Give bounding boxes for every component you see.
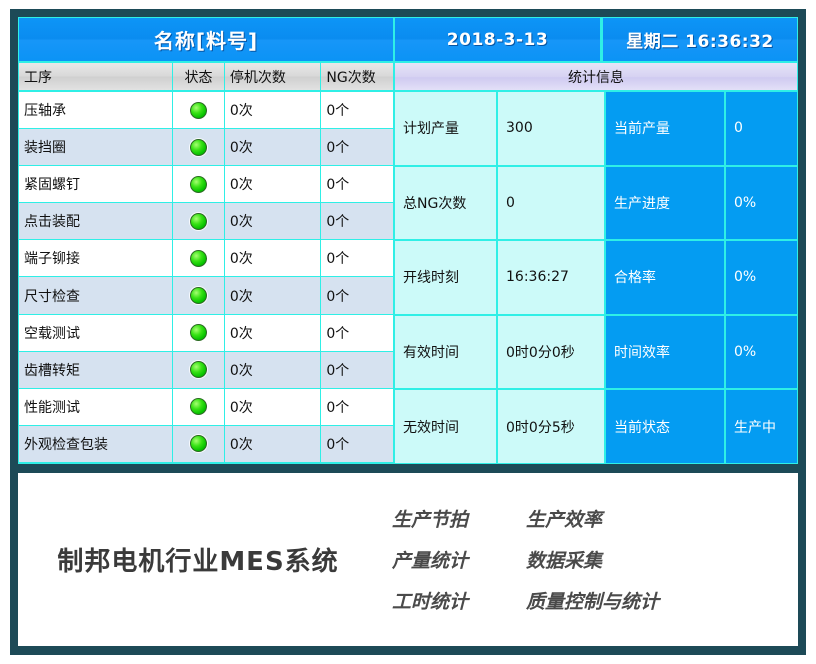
green-led-icon (190, 176, 207, 193)
dashboard-frame: 名称[料号] 工序 状态 停机次数 NG次数 压轴承0次0个装挡圈0次0个紧固螺… (10, 9, 806, 655)
ng-count: 0个 (321, 389, 393, 425)
statistics-row: 计划产量300当前产量0 (395, 92, 797, 167)
stat-label-right: 合格率 (606, 241, 726, 314)
stop-count: 0次 (225, 129, 321, 165)
feature-item: 产量统计 (392, 546, 468, 573)
green-led-icon (190, 398, 207, 415)
status-indicator (173, 240, 225, 276)
process-name: 紧固螺钉 (19, 166, 173, 202)
stat-label-right: 当前状态 (606, 390, 726, 463)
table-row[interactable]: 齿槽转矩0次0个 (19, 352, 393, 389)
table-row[interactable]: 空载测试0次0个 (19, 315, 393, 352)
green-led-icon (190, 139, 207, 156)
brand-title: 制邦电机行业MES系统 (18, 541, 378, 578)
feature-column-1: 生产节拍产量统计工时统计 (392, 505, 468, 614)
status-indicator (173, 315, 225, 351)
table-row[interactable]: 紧固螺钉0次0个 (19, 166, 393, 203)
stop-count: 0次 (225, 240, 321, 276)
process-name: 齿槽转矩 (19, 352, 173, 388)
table-row[interactable]: 点击装配0次0个 (19, 203, 393, 240)
statistics-row: 有效时间0时0分0秒时间效率0% (395, 316, 797, 391)
product-title: 名称[料号] (154, 25, 258, 54)
stat-label-right: 生产进度 (606, 167, 726, 240)
stat-value-right: 0% (726, 241, 797, 314)
table-row[interactable]: 外观检查包装0次0个 (19, 426, 393, 463)
stop-count: 0次 (225, 166, 321, 202)
green-led-icon (190, 324, 207, 341)
process-name: 空载测试 (19, 315, 173, 351)
stop-count: 0次 (225, 426, 321, 462)
ng-count: 0个 (321, 352, 393, 388)
stat-label-left: 开线时刻 (395, 241, 498, 314)
datetime-bar: 2018-3-13 星期二 16:36:32 (395, 18, 797, 63)
column-header-process: 工序 (19, 63, 173, 90)
stat-label-left: 无效时间 (395, 390, 498, 463)
stat-value-right: 生产中 (726, 390, 797, 463)
date-display: 2018-3-13 (395, 18, 603, 61)
ng-count: 0个 (321, 277, 393, 313)
stat-value-right: 0% (726, 316, 797, 389)
process-name: 尺寸检查 (19, 277, 173, 313)
process-name: 点击装配 (19, 203, 173, 239)
table-row[interactable]: 性能测试0次0个 (19, 389, 393, 426)
ng-count: 0个 (321, 92, 393, 128)
stat-label-left: 总NG次数 (395, 167, 498, 240)
statistics-row: 总NG次数0生产进度0% (395, 167, 797, 242)
stop-count: 0次 (225, 352, 321, 388)
ng-count: 0个 (321, 203, 393, 239)
stat-value-right: 0% (726, 167, 797, 240)
statistics-row: 无效时间0时0分5秒当前状态生产中 (395, 390, 797, 463)
top-panel: 名称[料号] 工序 状态 停机次数 NG次数 压轴承0次0个装挡圈0次0个紧固螺… (18, 17, 798, 464)
ng-count: 0个 (321, 315, 393, 351)
status-indicator (173, 426, 225, 462)
status-indicator (173, 203, 225, 239)
green-led-icon (190, 435, 207, 452)
process-name: 性能测试 (19, 389, 173, 425)
stat-value-left: 0 (498, 167, 606, 240)
ng-count: 0个 (321, 129, 393, 165)
statistics-row: 开线时刻16:36:27合格率0% (395, 241, 797, 316)
ng-count: 0个 (321, 426, 393, 462)
weekday-time-display: 星期二 16:36:32 (603, 18, 797, 61)
stop-count: 0次 (225, 92, 321, 128)
stop-count: 0次 (225, 315, 321, 351)
column-header-stops: 停机次数 (225, 63, 321, 90)
green-led-icon (190, 250, 207, 267)
status-indicator (173, 92, 225, 128)
stat-value-left: 0时0分0秒 (498, 316, 606, 389)
column-header-state: 状态 (173, 63, 225, 90)
stat-label-left: 有效时间 (395, 316, 498, 389)
product-title-bar: 名称[料号] (19, 18, 393, 63)
feature-list: 生产节拍产量统计工时统计 生产效率数据采集质量控制与统计 (392, 505, 659, 614)
table-row[interactable]: 端子铆接0次0个 (19, 240, 393, 277)
process-name: 端子铆接 (19, 240, 173, 276)
stat-value-right: 0 (726, 92, 797, 165)
status-indicator (173, 277, 225, 313)
feature-item: 生产效率 (526, 505, 659, 532)
green-led-icon (190, 287, 207, 304)
process-row-list: 压轴承0次0个装挡圈0次0个紧固螺钉0次0个点击装配0次0个端子铆接0次0个尺寸… (19, 92, 393, 463)
stat-value-left: 300 (498, 92, 606, 165)
footer-panel: 制邦电机行业MES系统 生产节拍产量统计工时统计 生产效率数据采集质量控制与统计 (18, 473, 798, 646)
stat-label-left: 计划产量 (395, 92, 498, 165)
process-table-header: 工序 状态 停机次数 NG次数 (19, 63, 393, 92)
feature-column-2: 生产效率数据采集质量控制与统计 (526, 505, 659, 614)
feature-item: 数据采集 (526, 546, 659, 573)
process-name: 压轴承 (19, 92, 173, 128)
green-led-icon (190, 361, 207, 378)
process-name: 装挡圈 (19, 129, 173, 165)
table-row[interactable]: 尺寸检查0次0个 (19, 277, 393, 314)
mes-dashboard: 名称[料号] 工序 状态 停机次数 NG次数 压轴承0次0个装挡圈0次0个紧固螺… (0, 0, 816, 664)
statistics-title: 统计信息 (395, 63, 797, 92)
process-table: 名称[料号] 工序 状态 停机次数 NG次数 压轴承0次0个装挡圈0次0个紧固螺… (19, 18, 395, 463)
column-header-ng: NG次数 (321, 63, 393, 90)
table-row[interactable]: 压轴承0次0个 (19, 92, 393, 129)
feature-item: 生产节拍 (392, 505, 468, 532)
process-name: 外观检查包装 (19, 426, 173, 462)
stat-label-right: 时间效率 (606, 316, 726, 389)
status-indicator (173, 129, 225, 165)
stat-value-left: 16:36:27 (498, 241, 606, 314)
ng-count: 0个 (321, 240, 393, 276)
stat-value-left: 0时0分5秒 (498, 390, 606, 463)
stop-count: 0次 (225, 389, 321, 425)
status-indicator (173, 389, 225, 425)
ng-count: 0个 (321, 166, 393, 202)
status-indicator (173, 166, 225, 202)
stat-label-right: 当前产量 (606, 92, 726, 165)
feature-item: 工时统计 (392, 587, 468, 614)
status-indicator (173, 352, 225, 388)
feature-item: 质量控制与统计 (526, 587, 659, 614)
statistics-panel: 2018-3-13 星期二 16:36:32 统计信息 计划产量300当前产量0… (395, 18, 797, 463)
green-led-icon (190, 102, 207, 119)
stop-count: 0次 (225, 277, 321, 313)
table-row[interactable]: 装挡圈0次0个 (19, 129, 393, 166)
stop-count: 0次 (225, 203, 321, 239)
statistics-row-list: 计划产量300当前产量0总NG次数0生产进度0%开线时刻16:36:27合格率0… (395, 92, 797, 463)
green-led-icon (190, 213, 207, 230)
